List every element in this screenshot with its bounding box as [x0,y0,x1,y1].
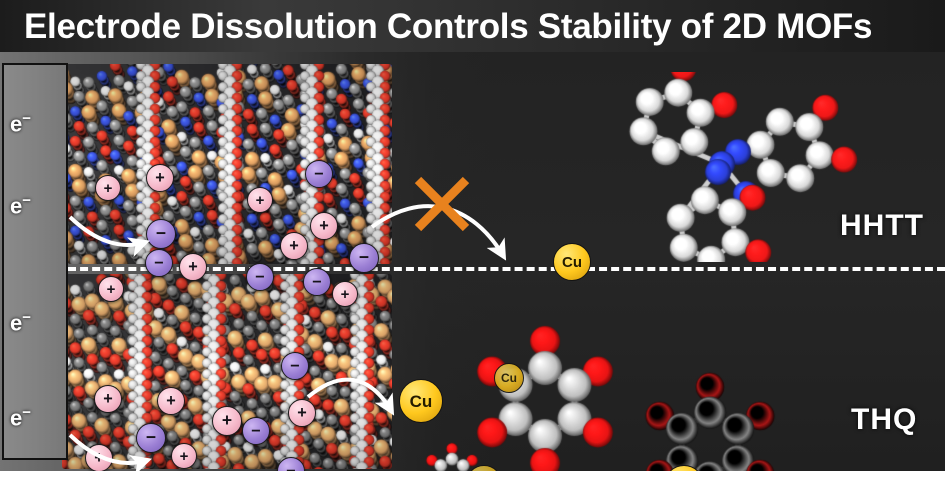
ion-badge-plus-bottom-4: + [171,443,197,469]
ion-badge-plus-bottom-1: + [157,387,185,415]
figure-canvas: e−e−e−e− ++−−+++−++−−−+++−++−++−−+−−+ Cu… [0,52,945,471]
ion-badge-minus-bottom-9: − [281,352,309,380]
ion-badge-plus-top-1: + [95,175,121,201]
panel-label-thq: THQ [851,403,917,437]
ion-badge-minus-top-7: − [305,160,333,188]
mof-slab-hhtt [62,64,392,264]
ion-badge-minus-top-10: − [246,263,274,291]
ion-badge-plus-bottom-7: + [212,406,242,436]
electron-label-2: e− [10,192,31,219]
ion-badge-plus-bottom-10: + [288,399,316,427]
molecule-hhtt [600,72,870,262]
ion-badge-minus-top-11: − [303,268,331,296]
ion-badge-plus-top-0: + [146,164,174,192]
ion-badge-minus-top-3: − [145,249,173,277]
page-title: Electrode Dissolution Controls Stability… [24,5,924,49]
copper-sphere-2: Cu [399,379,443,423]
ion-badge-plus-top-8: + [310,212,338,240]
title-bar: Electrode Dissolution Controls Stability… [0,0,945,52]
ion-badge-plus-top-5: + [98,276,124,302]
ion-badge-plus-bottom-3: + [85,444,113,471]
molecule-group-thq [340,267,945,471]
panel-label-hhtt: HHTT [840,209,924,243]
copper-sphere-1: Cu [553,243,591,281]
ion-badge-plus-top-9: + [280,232,308,260]
ion-badge-plus-bottom-0: + [94,385,122,413]
white-footer-strip [0,471,945,503]
cross-out-icon [418,180,466,228]
ion-badge-minus-bottom-2: − [136,423,166,453]
ion-badge-plus-top-13: + [332,281,358,307]
graphical-abstract: Electrode Dissolution Controls Stability… [0,0,945,503]
electron-label-4: e− [10,404,31,431]
electron-label-1: e− [10,110,31,137]
copper-sphere-3: Cu [494,363,524,393]
ion-badge-minus-top-2: − [146,219,176,249]
ion-badge-plus-top-6: + [247,187,273,213]
ion-badge-plus-top-4: + [179,253,207,281]
ion-badge-minus-bottom-8: − [242,417,270,445]
ion-badge-minus-top-12: − [349,243,379,273]
electron-label-3: e− [10,309,31,336]
